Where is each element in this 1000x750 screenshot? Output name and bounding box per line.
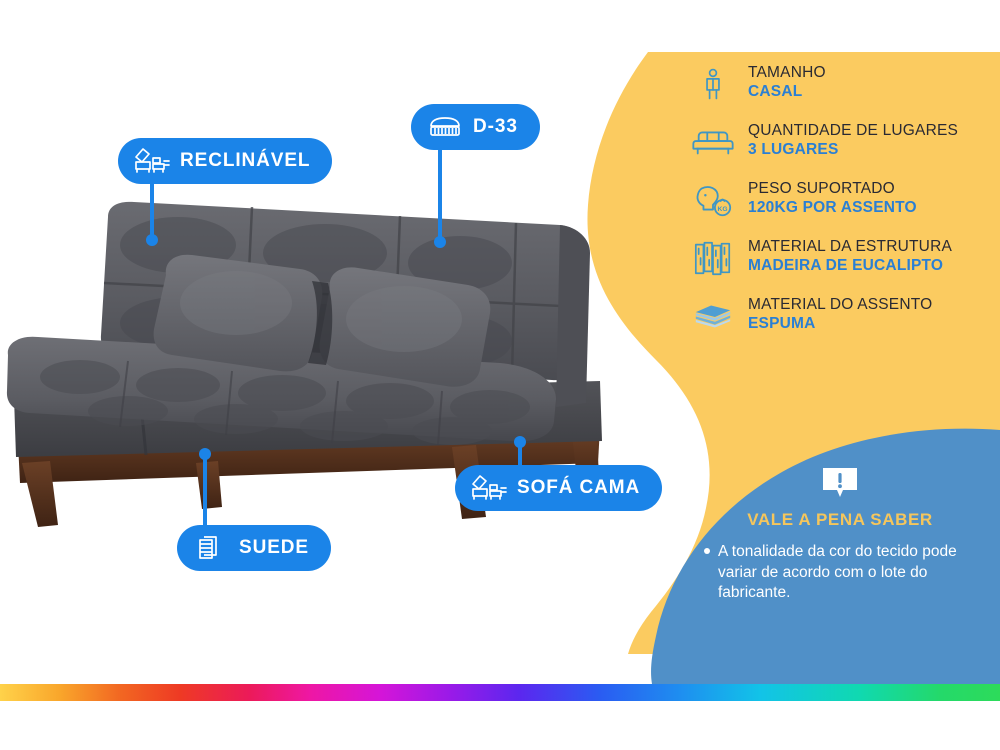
note-body-text: A tonalidade da cor do tecido pode varia…	[718, 543, 957, 601]
callout-pill-d33[interactable]: D-33	[411, 104, 540, 150]
callout-label-sofa-cama: SOFÁ CAMA	[517, 477, 640, 499]
spec-text-lugares: QUANTIDADE DE LUGARES 3 LUGARES	[748, 120, 958, 160]
spec-row-peso: KG PESO SUPORTADO 120KG POR ASSENTO	[690, 178, 990, 222]
spec-text-estrutura: MATERIAL DA ESTRUTURA MADEIRA DE EUCALIP…	[748, 236, 952, 276]
wood-planks-icon	[690, 236, 736, 280]
person-icon	[690, 62, 736, 106]
specs-list: TAMANHO CASAL QUANTIDADE DE LUGARES	[690, 62, 990, 352]
spec-label-tamanho: TAMANHO	[748, 64, 826, 82]
svg-text:KG: KG	[718, 206, 728, 213]
connector-dot-reclinavel	[146, 234, 158, 246]
product-photo-sofa	[0, 195, 640, 570]
spec-row-assento: MATERIAL DO ASSENTO ESPUMA	[690, 294, 990, 338]
spec-text-assento: MATERIAL DO ASSENTO ESPUMA	[748, 294, 932, 334]
callout-label-reclinavel: RECLINÁVEL	[180, 150, 310, 172]
connector-line-d33	[438, 148, 442, 242]
spec-text-peso: PESO SUPORTADO 120KG POR ASSENTO	[748, 178, 917, 218]
rainbow-footer-bar	[0, 684, 1000, 701]
foam-density-mattress-icon	[425, 112, 465, 142]
recliner-sofa-icon	[132, 146, 172, 176]
spec-text-tamanho: TAMANHO CASAL	[748, 62, 826, 102]
spec-label-peso: PESO SUPORTADO	[748, 180, 917, 198]
foam-layers-icon	[690, 294, 736, 338]
fabric-swatch-icon	[191, 533, 231, 563]
spec-value-estrutura: MADEIRA DE EUCALIPTO	[748, 256, 952, 276]
infographic-canvas: RECLINÁVEL D-33	[0, 0, 1000, 750]
spec-value-peso: 120KG POR ASSENTO	[748, 198, 917, 218]
callout-pill-reclinavel[interactable]: RECLINÁVEL	[118, 138, 332, 184]
note-body: A tonalidade da cor do tecido pode varia…	[690, 542, 990, 604]
callout-pill-suede[interactable]: SUEDE	[177, 525, 331, 571]
sofa-bed-icon	[469, 473, 509, 503]
callout-pill-sofa-cama[interactable]: SOFÁ CAMA	[455, 465, 662, 511]
vale-a-pena-saber-panel: VALE A PENA SABER A tonalidade da cor do…	[690, 466, 990, 604]
exclamation-speech-bubble-icon	[820, 466, 860, 500]
connector-line-reclinavel	[150, 182, 154, 240]
spec-row-tamanho: TAMANHO CASAL	[690, 62, 990, 106]
connector-dot-sofacama	[514, 436, 526, 448]
spec-value-tamanho: CASAL	[748, 82, 826, 102]
connector-line-suede	[203, 452, 207, 530]
spec-row-estrutura: MATERIAL DA ESTRUTURA MADEIRA DE EUCALIP…	[690, 236, 990, 280]
spec-label-assento: MATERIAL DO ASSENTO	[748, 296, 932, 314]
callout-label-d33: D-33	[473, 116, 518, 138]
connector-dot-suede	[199, 448, 211, 460]
note-title: VALE A PENA SABER	[690, 510, 990, 530]
spec-value-lugares: 3 LUGARES	[748, 140, 958, 160]
connector-dot-d33	[434, 236, 446, 248]
spec-row-lugares: QUANTIDADE DE LUGARES 3 LUGARES	[690, 120, 990, 164]
spec-value-assento: ESPUMA	[748, 314, 932, 334]
sofa-icon	[690, 120, 736, 164]
weight-head-kg-icon: KG	[690, 178, 736, 222]
callout-label-suede: SUEDE	[239, 537, 309, 559]
note-bullet-icon	[704, 548, 710, 554]
spec-label-estrutura: MATERIAL DA ESTRUTURA	[748, 238, 952, 256]
spec-label-lugares: QUANTIDADE DE LUGARES	[748, 122, 958, 140]
